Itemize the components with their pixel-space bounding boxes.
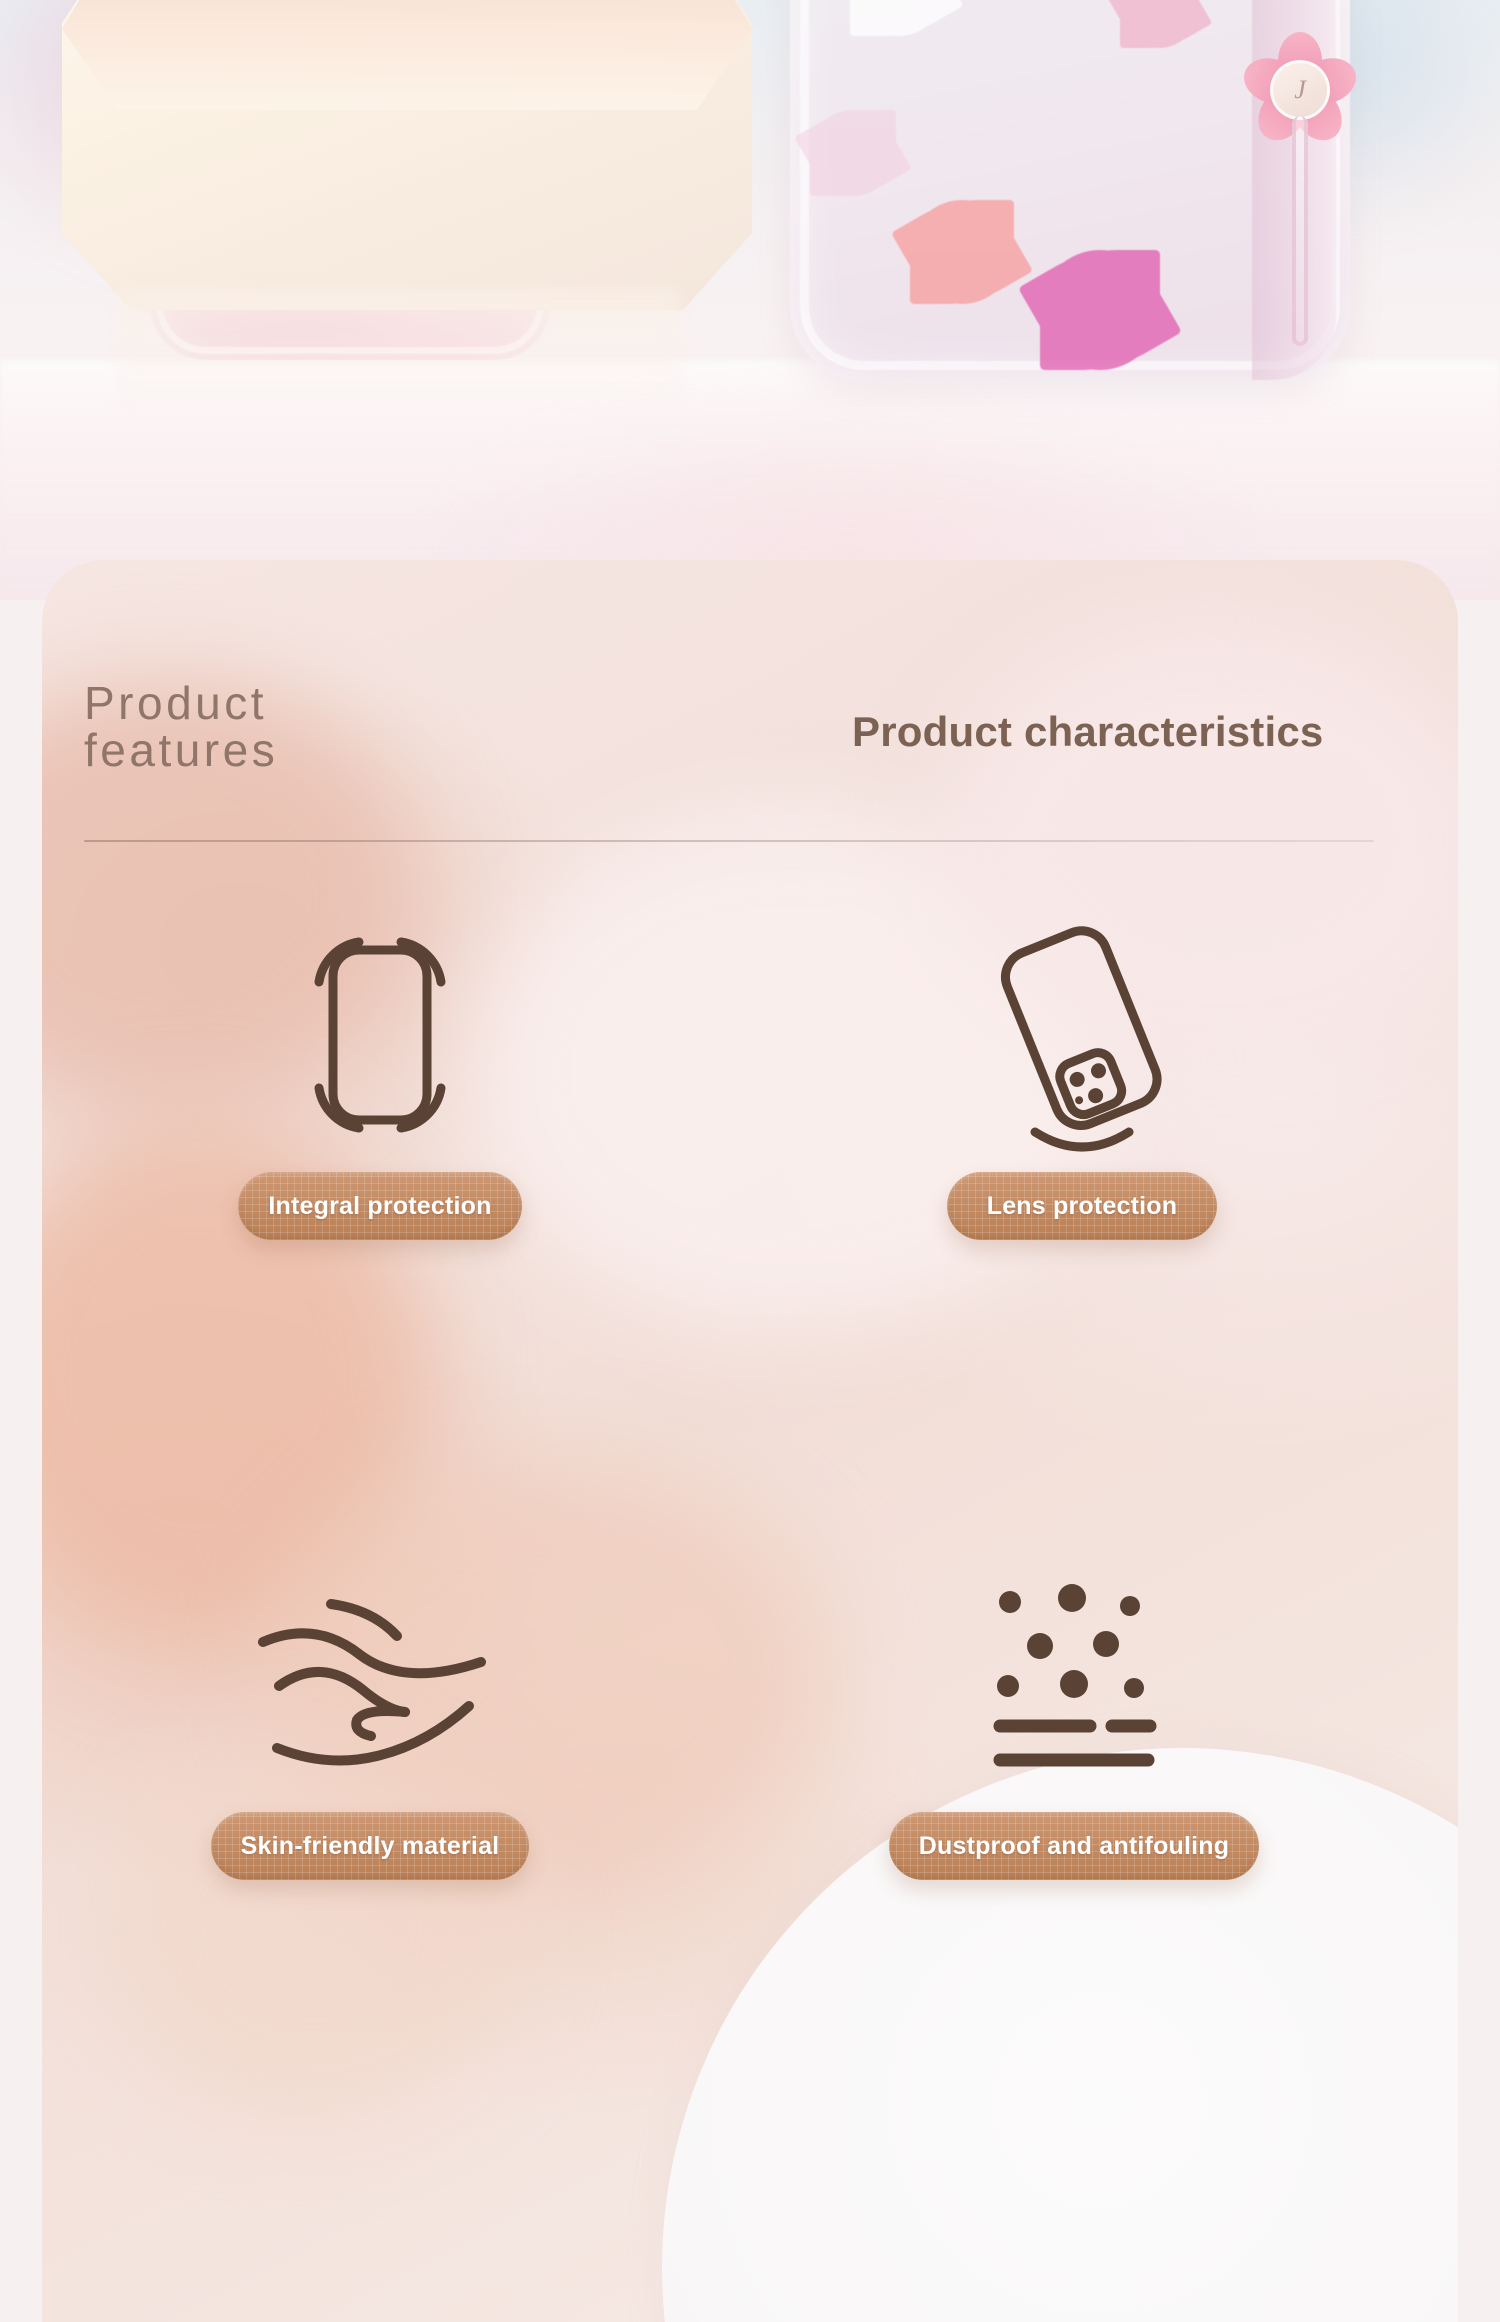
dust-particles-barrier-icon [984, 1560, 1164, 1790]
page-title-left: Product features [84, 680, 278, 774]
feature-item-skin-friendly: Skin-friendly material [60, 1560, 680, 1880]
charm-strap [1292, 116, 1308, 346]
sakura-charm: J [1240, 30, 1360, 150]
feature-label-pill[interactable]: Skin-friendly material [211, 1812, 530, 1880]
feature-item-integral-protection: Integral protection [70, 920, 690, 1240]
blossom [810, 110, 896, 196]
phone-full-protection-icon [275, 920, 485, 1150]
page-title-right: Product characteristics [852, 708, 1323, 756]
charm-monogram: J [1270, 60, 1330, 120]
hand-soft-touch-icon [245, 1560, 495, 1790]
product-features-panel: Product features Product characteristics… [42, 560, 1458, 2322]
feature-item-lens-protection: Lens protection [772, 920, 1392, 1240]
pedestal-top-face [62, 0, 752, 110]
panel-headings: Product features Product characteristics [42, 680, 1458, 820]
feature-label-pill[interactable]: Dustproof and antifouling [889, 1812, 1260, 1880]
feature-item-dustproof: Dustproof and antifouling [764, 1560, 1384, 1880]
hero-product-photo: J [0, 0, 1500, 600]
feature-label-pill[interactable]: Lens protection [947, 1172, 1217, 1240]
blossom [910, 200, 1014, 304]
product-feature-infographic: J Product features Product characteristi… [0, 0, 1500, 2322]
feature-label-pill[interactable]: Integral protection [238, 1172, 521, 1240]
heading-divider [84, 840, 1374, 842]
phone-camera-lens-icon [977, 920, 1187, 1150]
